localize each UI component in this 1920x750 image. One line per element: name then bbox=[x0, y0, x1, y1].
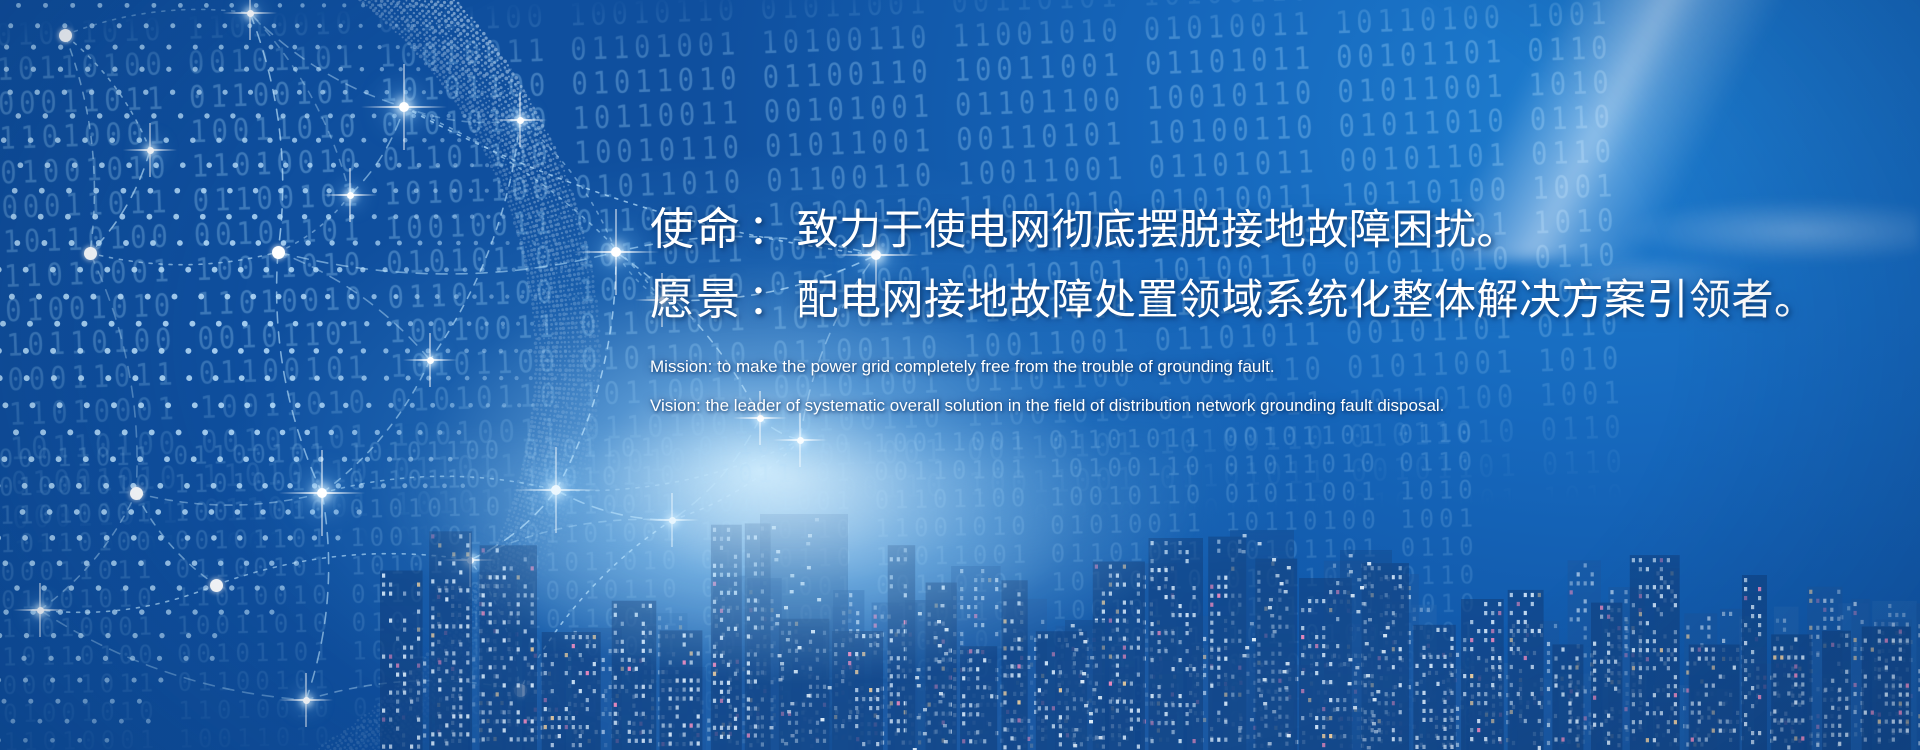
network-node bbox=[427, 357, 434, 364]
network-node bbox=[347, 192, 354, 199]
network-node bbox=[399, 102, 409, 112]
binary-row: 01001010 11010010 01101100 10010110 0101… bbox=[0, 447, 1477, 502]
city-skyline-icon bbox=[0, 420, 1920, 750]
headline-mission-text: 致力于使电网彻底摆脱接地故障困扰。 bbox=[797, 206, 1520, 253]
network-node bbox=[147, 147, 154, 154]
subtitle-mission-en: Mission: to make the power grid complete… bbox=[650, 356, 1900, 379]
network-node bbox=[467, 557, 474, 564]
binary-row: 01001010 11010010 01101100 10010110 0101… bbox=[11, 410, 1627, 502]
binary-row: 00011011 01100101 10101100 01011010 0110… bbox=[0, 418, 1477, 473]
binary-row: 00011011 01100101 10101100 01011010 0110… bbox=[2, 645, 1480, 700]
headline-mission-lead: 使命 bbox=[650, 205, 742, 254]
binary-texture-bottom: 00011011 01100101 10101100 01011010 0110… bbox=[0, 412, 1920, 750]
binary-row: 01001010 11010010 01101100 10010110 0101… bbox=[0, 100, 1616, 192]
binary-row: 10110100 00101101 10010011 01101001 1010… bbox=[2, 617, 1480, 672]
network-node bbox=[611, 247, 621, 257]
headline-vision-colon: ： bbox=[742, 276, 797, 323]
binary-row: 01001010 11010010 01101100 10010110 0101… bbox=[1, 560, 1479, 615]
subtitle-vision-en: Vision: the leader of systematic overall… bbox=[650, 395, 1900, 418]
network-node bbox=[303, 697, 310, 704]
binary-row: 00011011 01100101 10101100 01011010 0110… bbox=[0, 31, 1613, 123]
headline-vision: 愿景：配电网接地故障处置领域系统化整体解决方案引领者。 bbox=[650, 278, 1900, 322]
binary-row: 11010001 10011010 01010110 10110011 0010… bbox=[3, 702, 1481, 750]
headline-mission: 使命：致力于使电网彻底摆脱接地故障困扰。 bbox=[650, 208, 1900, 252]
network-node bbox=[210, 579, 223, 592]
network-node bbox=[669, 517, 676, 524]
binary-row: 01001010 11010010 01101100 10010110 0101… bbox=[3, 673, 1481, 728]
dotted-globe-icon bbox=[0, 0, 630, 750]
network-node bbox=[247, 10, 254, 17]
binary-row: 11010001 10011010 01010110 10110011 0010… bbox=[0, 475, 1478, 530]
network-node bbox=[317, 488, 327, 498]
network-node bbox=[551, 485, 561, 495]
network-node bbox=[84, 247, 97, 260]
hero-banner: 01001010 11010010 01101100 10010110 0101… bbox=[0, 0, 1920, 750]
binary-row: 00011011 01100101 10101100 01011010 0110… bbox=[12, 444, 1628, 536]
binary-row: 01001010 11010010 01101100 10010110 0101… bbox=[0, 0, 1611, 54]
network-node bbox=[130, 487, 143, 500]
binary-row: 00011011 01100101 10101100 01011010 0110… bbox=[0, 532, 1478, 587]
binary-row: 10110100 00101101 10010011 01101001 1010… bbox=[0, 0, 1612, 88]
binary-row: 11010001 10011010 01010110 10110011 0010… bbox=[0, 65, 1614, 157]
network-node bbox=[59, 29, 72, 42]
binary-row: 10110100 00101101 10010011 01101001 1010… bbox=[0, 503, 1478, 558]
network-node bbox=[37, 607, 44, 614]
binary-row: 11010001 10011010 01010110 10110011 0010… bbox=[1, 588, 1479, 643]
headline-vision-text: 配电网接地故障处置领域系统化整体解决方案引领者。 bbox=[797, 276, 1817, 323]
network-node bbox=[517, 117, 524, 124]
binary-row: 11010001 10011010 01010110 10110011 0010… bbox=[13, 479, 1629, 560]
city-haze bbox=[0, 420, 1920, 750]
network-node bbox=[514, 684, 527, 697]
network-node bbox=[272, 246, 285, 259]
headline-vision-lead: 愿景 bbox=[650, 275, 742, 324]
banner-copy: 使命：致力于使电网彻底摆脱接地故障困扰。 愿景：配电网接地故障处置领域系统化整体… bbox=[650, 208, 1900, 418]
headline-mission-colon: ： bbox=[742, 206, 797, 253]
network-node bbox=[797, 437, 804, 444]
